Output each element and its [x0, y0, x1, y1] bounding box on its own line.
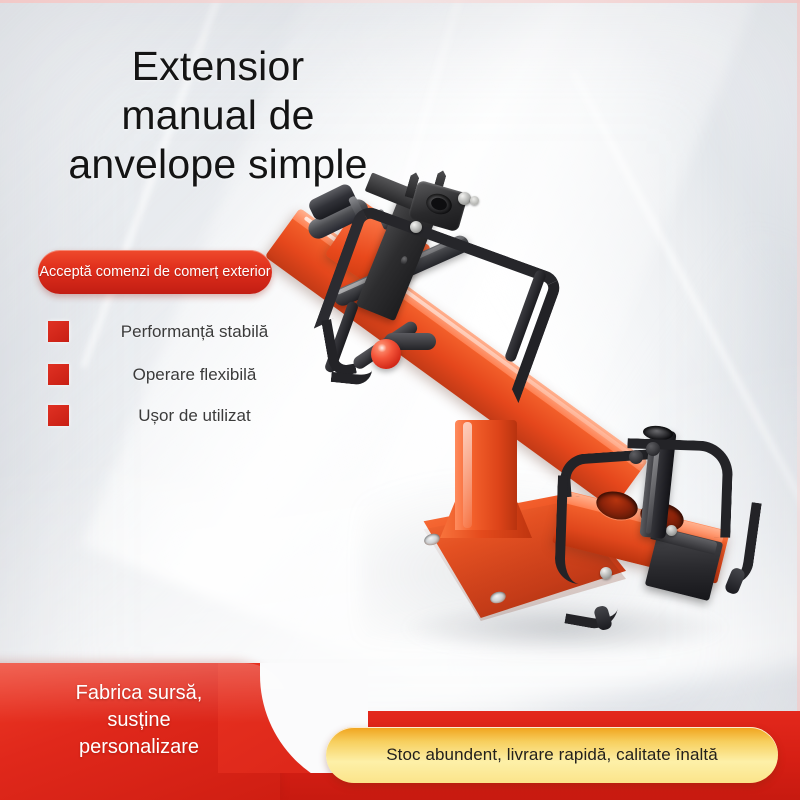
bolt-head-3 — [410, 221, 422, 233]
title-line-2: manual de — [38, 91, 398, 140]
feature-label: Ușor de utilizat — [91, 404, 298, 427]
bolt-head-1 — [458, 192, 471, 205]
advertisement-banner: Extensior manual de anvelope simple Acce… — [0, 0, 800, 800]
column-highlight — [463, 422, 472, 528]
list-item: Ușor de utilizat — [48, 404, 298, 427]
title-line-3: anvelope simple — [38, 140, 398, 189]
page-title: Extensior manual de anvelope simple — [38, 42, 398, 189]
square-bullet-icon — [48, 364, 69, 385]
factory-caption-line-2: susține — [14, 707, 264, 734]
export-orders-badge-label: Acceptă comenzi de comerț exterior — [39, 264, 270, 281]
feature-list: Performanță stabilă Operare flexibilă Uș… — [48, 320, 298, 441]
bolt-head-2 — [470, 196, 479, 205]
list-item: Performanță stabilă — [48, 320, 298, 343]
factory-source-caption: Fabrica sursă, susține personalizare — [14, 680, 264, 761]
stock-delivery-quality-label: Stoc abundent, livrare rapidă, calitate … — [386, 745, 718, 765]
square-bullet-icon — [48, 321, 69, 342]
stock-delivery-quality-pill[interactable]: Stoc abundent, livrare rapidă, calitate … — [326, 727, 778, 783]
product-contact-shadow — [400, 600, 730, 656]
list-item: Operare flexibilă — [48, 363, 298, 386]
feature-label: Performanță stabilă — [91, 320, 298, 343]
handle-pivot-1 — [629, 450, 643, 464]
feature-label: Operare flexibilă — [91, 363, 298, 386]
red-ball-knob — [371, 339, 401, 369]
handle-pivot-2 — [646, 442, 660, 456]
red-ball-highlight — [377, 344, 387, 352]
curved-handle-left-shaft — [554, 475, 594, 584]
factory-caption-line-3: personalizare — [14, 734, 264, 761]
bolt-head-5 — [600, 567, 612, 579]
factory-caption-line-1: Fabrica sursă, — [14, 680, 264, 707]
title-line-1: Extensior — [38, 42, 398, 91]
export-orders-badge[interactable]: Acceptă comenzi de comerț exterior — [38, 250, 272, 294]
square-bullet-icon — [48, 405, 69, 426]
